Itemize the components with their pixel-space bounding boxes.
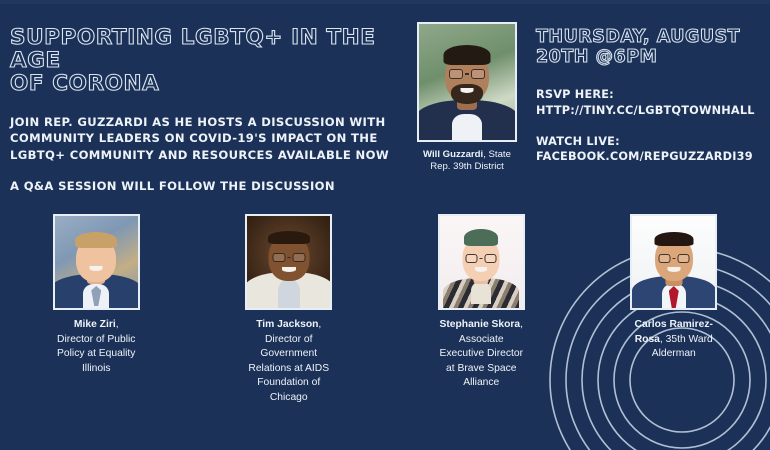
portrait-mike-ziri — [55, 216, 138, 308]
speaker-card: Carlos Ramirez-Rosa, 35th Ward Alderman — [578, 214, 770, 406]
portrait-tim-jackson — [247, 216, 330, 308]
host-photo — [417, 22, 517, 142]
speaker-photo — [630, 214, 717, 310]
speaker-card: Tim Jackson, Director of Government Rela… — [193, 214, 386, 406]
rsvp-link[interactable]: HTTP://TINY.CC/LGBTQTOWNHALL — [536, 103, 766, 118]
speaker-name: Tim Jackson — [256, 319, 318, 330]
speaker-name: Mike Ziri — [74, 319, 116, 330]
speaker-caption: Stephanie Skora, Associate Executive Dir… — [416, 318, 546, 391]
speaker-name: Carlos Ramirez- — [635, 319, 713, 330]
top-section: Supporting LGBTQ+ in the Age of Corona J… — [0, 0, 770, 200]
event-details-column: Thursday, August 20th @6pm RSVP here: HT… — [536, 28, 766, 165]
speaker-name-rest: , — [116, 319, 119, 330]
speaker-name-rest: , — [318, 319, 321, 330]
speaker-role: Associate Executive Director at Brave Sp… — [439, 334, 523, 389]
event-flyer: Supporting LGBTQ+ in the Age of Corona J… — [0, 0, 770, 450]
speaker-role: , 35th Ward Alderman — [652, 334, 713, 360]
speaker-caption: Tim Jackson, Director of Government Rela… — [224, 318, 354, 406]
portrait-stephanie-skora — [440, 216, 523, 308]
speakers-row: Mike Ziri, Director of Public Policy at … — [0, 214, 770, 406]
headline-column: Supporting LGBTQ+ in the Age of Corona J… — [10, 26, 390, 193]
host-card: Will Guzzardi, State Rep. 39th District — [417, 22, 517, 174]
speaker-photo — [245, 214, 332, 310]
speaker-name: Stephanie Skora — [439, 319, 520, 330]
speaker-caption: Carlos Ramirez-Rosa, 35th Ward Alderman — [609, 318, 739, 362]
host-title: , State — [483, 149, 511, 160]
speaker-card: Stephanie Skora, Associate Executive Dir… — [385, 214, 578, 406]
speaker-name-rest: , — [520, 319, 523, 330]
rsvp-label: RSVP here: — [536, 87, 766, 102]
speaker-role: Director of Public Policy at Equality Il… — [57, 334, 135, 374]
event-date: Thursday, August 20th @6pm — [536, 28, 766, 67]
page-title: Supporting LGBTQ+ in the Age of Corona — [10, 26, 390, 96]
watch-block: Watch live: FACEBOOK.COM/REPGUZZARDI39 — [536, 134, 766, 165]
speaker-role: Director of Government Relations at AIDS… — [248, 334, 329, 403]
rsvp-block: RSVP here: HTTP://TINY.CC/LGBTQTOWNHALL — [536, 87, 766, 118]
host-caption: Will Guzzardi, State Rep. 39th District — [417, 149, 517, 174]
speaker-photo — [53, 214, 140, 310]
event-description: Join Rep. Guzzardi as he hosts a discuss… — [10, 114, 390, 163]
portrait-carlos-ramirez-rosa — [632, 216, 715, 308]
speaker-caption: Mike Ziri, Director of Public Policy at … — [31, 318, 161, 376]
watch-link[interactable]: FACEBOOK.COM/REPGUZZARDI39 — [536, 149, 766, 164]
speaker-card: Mike Ziri, Director of Public Policy at … — [0, 214, 193, 406]
speaker-photo — [438, 214, 525, 310]
speaker-name-rest: Rosa — [635, 334, 660, 345]
host-title-line2: Rep. 39th District — [430, 161, 504, 172]
qa-note: A Q&A session will follow the discussion — [10, 179, 390, 193]
portrait-will-guzzardi — [419, 24, 515, 140]
watch-label: Watch live: — [536, 134, 766, 149]
host-name: Will Guzzardi — [423, 149, 483, 160]
